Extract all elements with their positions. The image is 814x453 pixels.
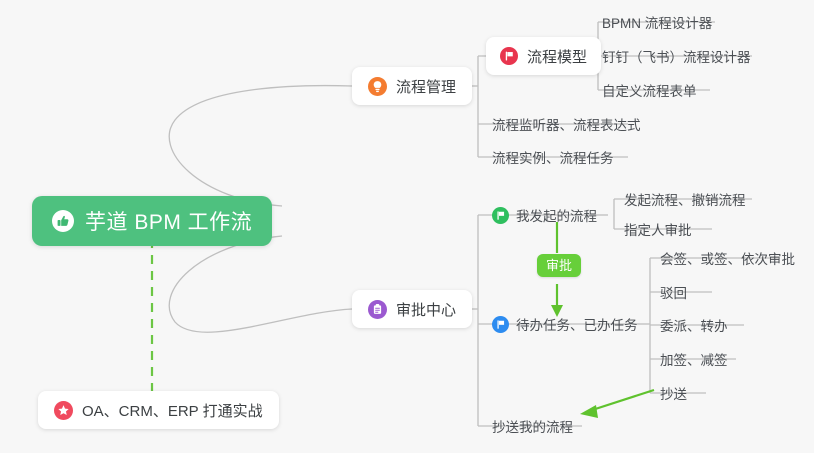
approval-badge-label: 审批	[546, 258, 572, 273]
leaf-label: 发起流程、撤销流程	[624, 189, 746, 209]
leaf-label: 自定义流程表单	[602, 80, 697, 100]
root-node[interactable]: 芋道 BPM 工作流	[32, 196, 272, 246]
flag-icon	[492, 316, 509, 333]
approval-badge: 审批	[537, 254, 581, 277]
branch-label: 流程管理	[396, 76, 456, 97]
leaf-add-remove-sign[interactable]: 加签、减签	[656, 345, 736, 373]
leaf-label: 抄送	[660, 383, 687, 403]
leaf-label: 委派、转办	[660, 315, 728, 335]
node-label: 我发起的流程	[516, 205, 597, 225]
leaf-process-listener[interactable]: 流程监听器、流程表达式	[488, 110, 649, 138]
leaf-assignee-approval[interactable]: 指定人审批	[620, 215, 700, 243]
arrow-cc-to-ccmine	[586, 390, 654, 412]
leaf-label: 会签、或签、依次审批	[660, 248, 795, 268]
leaf-label: 流程监听器、流程表达式	[492, 114, 641, 134]
leaf-dingtalk-feishu-designer[interactable]: 钉钉（飞书）流程设计器	[598, 42, 759, 70]
branch-process-management[interactable]: 流程管理	[352, 67, 472, 105]
root-label: 芋道 BPM 工作流	[85, 206, 252, 236]
leaf-label: 钉钉（飞书）流程设计器	[602, 46, 751, 66]
thumbs-up-icon	[52, 210, 74, 232]
flag-icon	[500, 47, 518, 65]
leaf-cc-my-process[interactable]: 抄送我的流程	[488, 412, 581, 440]
leaf-label: 流程实例、流程任务	[492, 147, 614, 167]
bottom-note-label: OA、CRM、ERP 打通实战	[82, 400, 263, 421]
leaf-reject[interactable]: 驳回	[656, 278, 695, 306]
star-icon	[54, 401, 73, 420]
leaf-label: 抄送我的流程	[492, 416, 573, 436]
edge-root-to-process-management	[169, 86, 352, 206]
leaf-label: 指定人审批	[624, 219, 692, 239]
node-my-started-process[interactable]: 我发起的流程	[492, 201, 605, 229]
leaf-bpmn-designer[interactable]: BPMN 流程设计器	[598, 8, 720, 36]
bottom-note-node[interactable]: OA、CRM、ERP 打通实战	[38, 391, 279, 429]
leaf-label: 驳回	[660, 282, 687, 302]
leaf-delegate-transfer[interactable]: 委派、转办	[656, 311, 736, 339]
node-label: 流程模型	[527, 46, 587, 67]
lightbulb-icon	[368, 77, 387, 96]
node-process-model[interactable]: 流程模型	[486, 37, 601, 75]
leaf-label: 加签、减签	[660, 349, 728, 369]
leaf-label: BPMN 流程设计器	[602, 12, 712, 32]
branch-label: 审批中心	[396, 299, 456, 320]
leaf-cc[interactable]: 抄送	[656, 379, 695, 407]
node-label: 待办任务、已办任务	[516, 314, 638, 334]
leaf-custom-process-form[interactable]: 自定义流程表单	[598, 76, 705, 104]
clipboard-icon	[368, 300, 387, 319]
edge-root-to-approval-center	[169, 236, 352, 332]
leaf-start-cancel-process[interactable]: 发起流程、撤销流程	[620, 185, 754, 213]
arrowhead-ccmine	[580, 405, 598, 418]
leaf-process-instance-task[interactable]: 流程实例、流程任务	[488, 143, 622, 171]
mindmap-canvas: 芋道 BPM 工作流 OA、CRM、ERP 打通实战 流程管理	[0, 0, 814, 453]
branch-approval-center[interactable]: 审批中心	[352, 290, 472, 328]
flag-icon	[492, 207, 509, 224]
leaf-countersign[interactable]: 会签、或签、依次审批	[656, 244, 803, 272]
node-todo-done-task[interactable]: 待办任务、已办任务	[492, 310, 646, 338]
